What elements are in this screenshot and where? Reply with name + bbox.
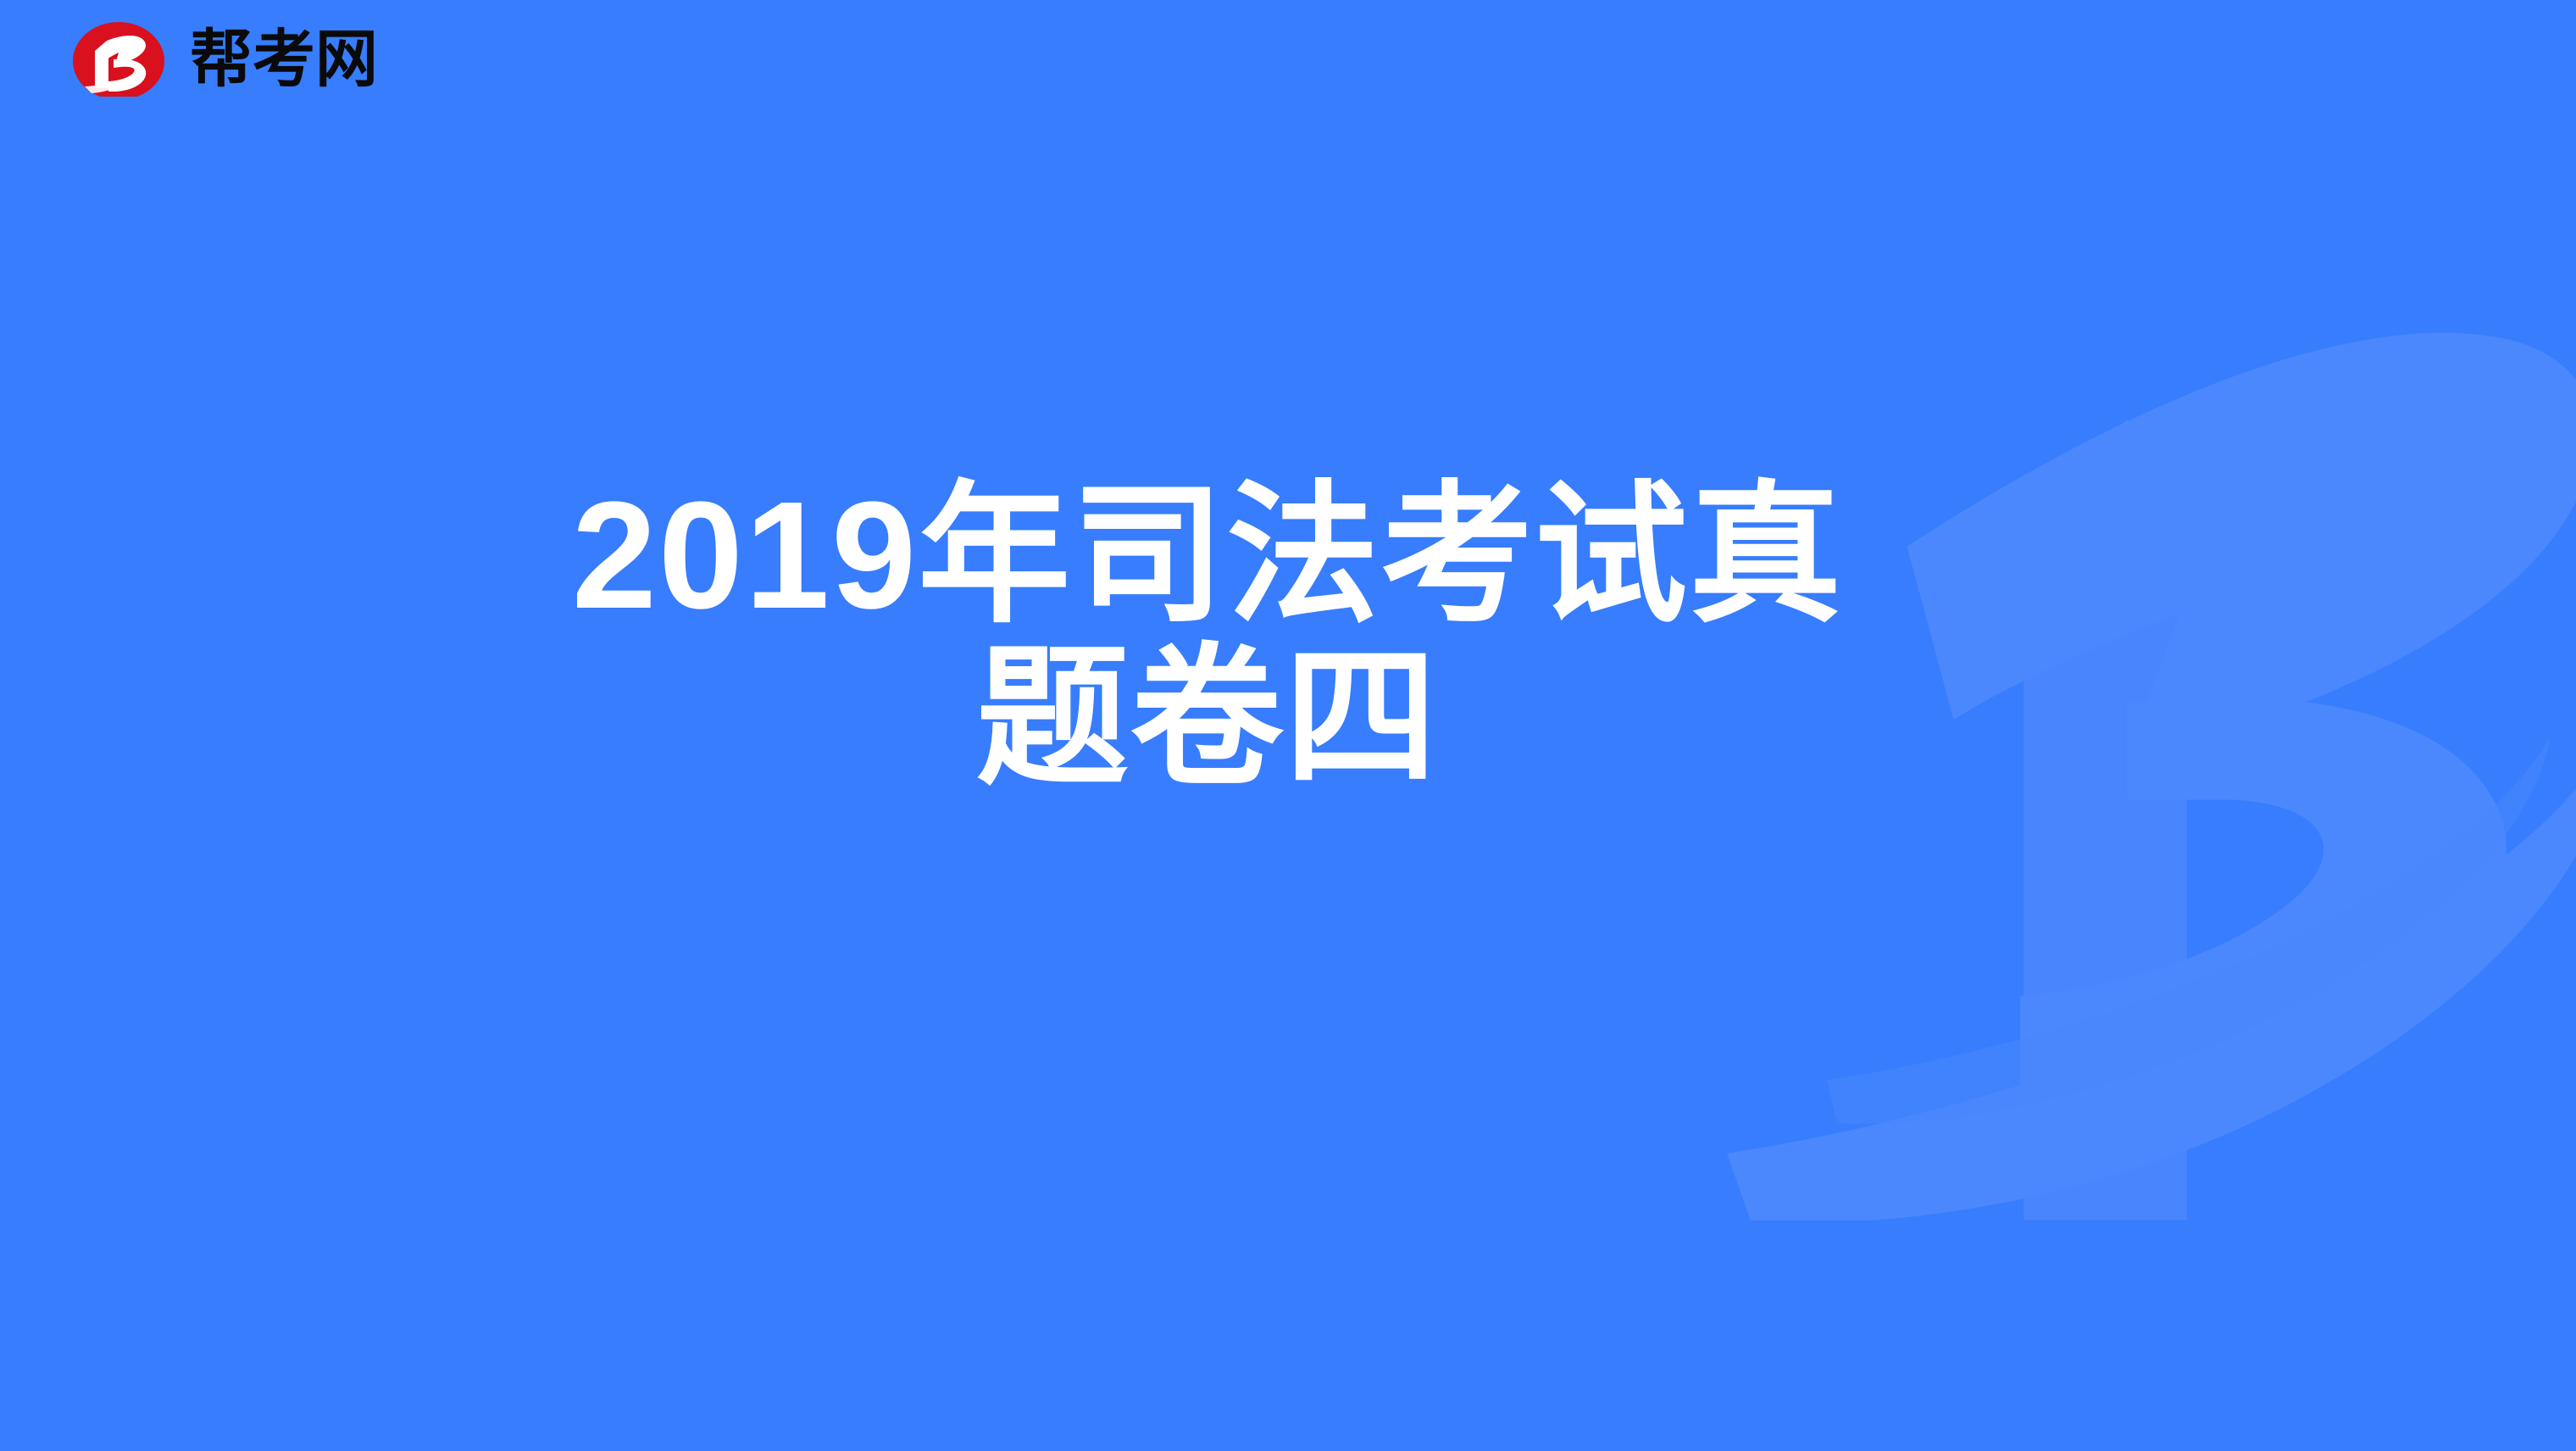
slide-canvas: 帮考网 2019年司法考试真 题卷四: [0, 0, 2576, 1451]
title-line-1: 2019年司法考试真: [0, 475, 2415, 637]
brand-logo[interactable]: 帮考网: [66, 19, 378, 97]
title-line-2: 题卷四: [0, 637, 2415, 800]
brand-wordmark: 帮考网: [190, 28, 378, 91]
page-title: 2019年司法考试真 题卷四: [0, 475, 2576, 800]
bangkao-b-logo-icon: [66, 19, 171, 97]
